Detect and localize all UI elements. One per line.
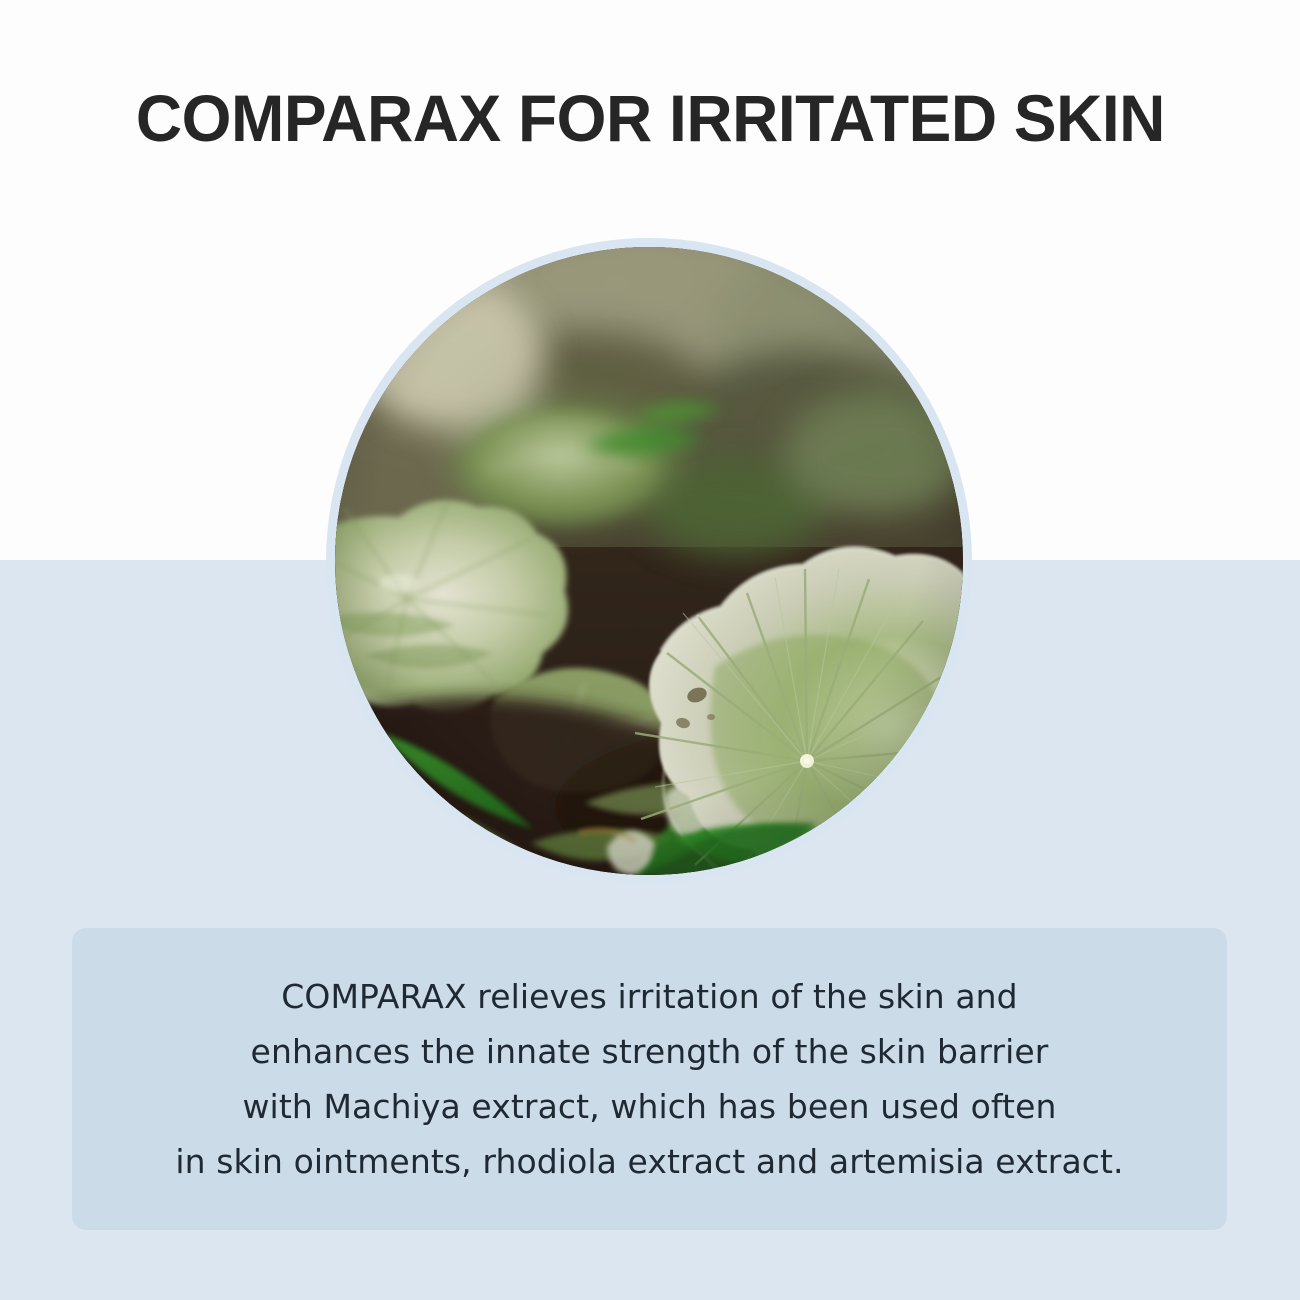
hero-image-centella-asiatica-leaves: [335, 247, 963, 875]
product-info-page: COMPARAX FOR IRRITATED SKIN: [0, 0, 1300, 1300]
description-text: COMPARAX relieves irritation of the skin…: [175, 969, 1123, 1189]
description-card: COMPARAX relieves irritation of the skin…: [72, 928, 1227, 1230]
hero-image-ring: [326, 238, 972, 884]
page-title-container: COMPARAX FOR IRRITATED SKIN: [0, 84, 1300, 153]
page-title: COMPARAX FOR IRRITATED SKIN: [136, 84, 1165, 153]
